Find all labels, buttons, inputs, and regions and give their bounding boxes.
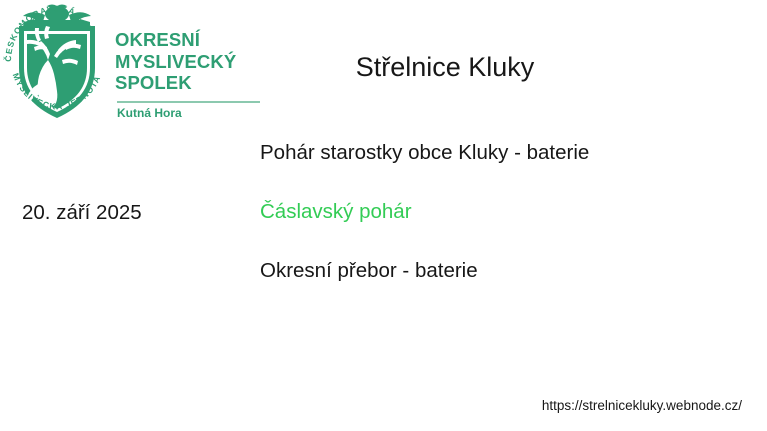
- list-item: Okresní přebor - baterie: [260, 258, 740, 284]
- list-item: Pohár starostky obce Kluky - baterie: [260, 140, 740, 166]
- logo-wordmark-line-1: OKRESNÍ: [115, 29, 270, 51]
- organization-logo: ČESKOMORAVSKÁ MYSLIVECKÁ JEDNOTA OKRESNÍ…: [0, 2, 272, 128]
- logo-divider: [117, 101, 260, 103]
- hunting-association-shield-emblem-icon: ČESKOMORAVSKÁ MYSLIVECKÁ JEDNOTA: [2, 2, 112, 126]
- event-date: 20. září 2025: [22, 200, 142, 226]
- logo-subtitle: Kutná Hora: [117, 106, 182, 121]
- page-title: Střelnice Kluky: [250, 50, 640, 84]
- logo-wordmark-line-2: MYSLIVECKÝ: [115, 51, 270, 73]
- list-item: Čáslavský pohár: [260, 199, 740, 225]
- event-list: Pohár starostky obce Kluky - baterie Čás…: [260, 140, 740, 284]
- footer-url: https://strelnicekluky.webnode.cz/: [542, 397, 742, 415]
- logo-wordmark-line-3: SPOLEK: [115, 72, 270, 94]
- slide-canvas: ČESKOMORAVSKÁ MYSLIVECKÁ JEDNOTA OKRESNÍ…: [0, 0, 767, 431]
- logo-wordmark: OKRESNÍ MYSLIVECKÝ SPOLEK: [115, 29, 270, 94]
